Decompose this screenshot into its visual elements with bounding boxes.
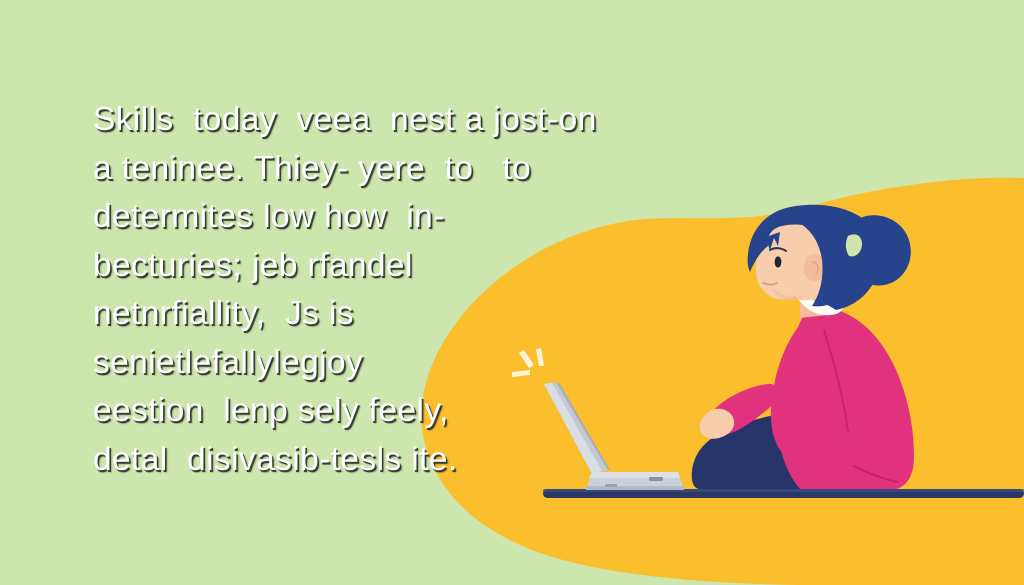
headline-line: becturies; jeb rfandel [93, 242, 733, 291]
headline-text-block: Skills today veea nest a jost-on a tenin… [93, 96, 733, 484]
headline-line: eestion lenp sely feely, [93, 387, 733, 436]
headline-line: determites low how in- [93, 193, 733, 242]
illustration-card: Skills today veea nest a jost-on a tenin… [0, 0, 1024, 585]
headline-line: netnrfiallity, Js is [93, 290, 733, 339]
laptop-port-mark [605, 484, 617, 487]
person-eye [775, 256, 782, 267]
headline-line: detal disivasib-tesls ite. [93, 436, 733, 485]
headline-line: Skills today veea nest a jost-on [93, 96, 733, 145]
laptop-base-shadow [586, 486, 684, 490]
headline-line: senietlefallylegjoy [93, 339, 733, 388]
headline-line: a teninee. Thiey- yere to to [93, 145, 733, 194]
